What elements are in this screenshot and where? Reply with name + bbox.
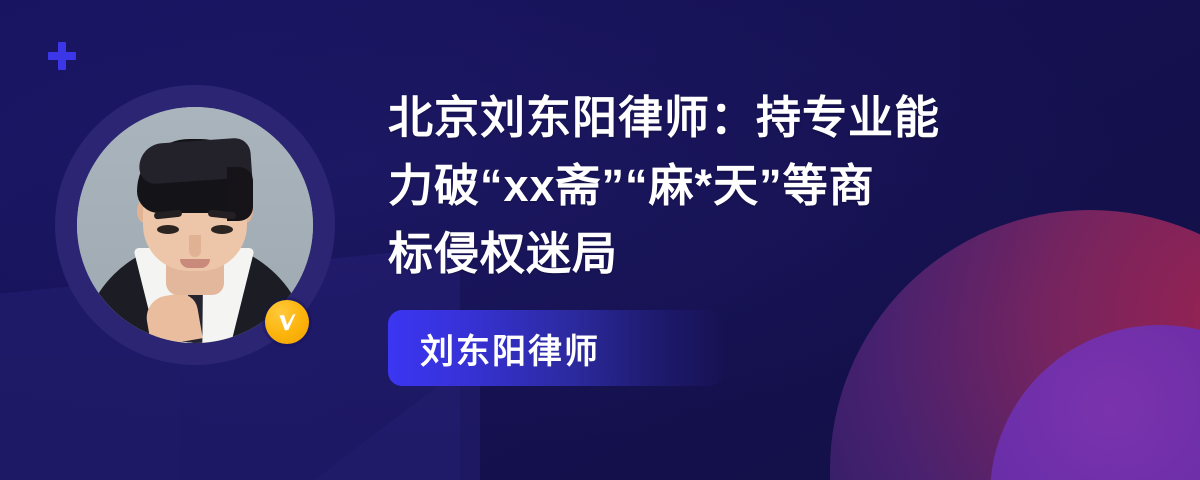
plus-icon-vertical-bar	[58, 42, 66, 70]
headline: 北京刘东阳律师：持专业能 力破“xx斋”“麻*天”等商 标侵权迷局	[388, 84, 1088, 288]
portrait-eye-left	[157, 225, 179, 234]
portrait-eye-right	[211, 225, 233, 234]
cta-row: 刘东阳律师	[388, 310, 1088, 386]
portrait-mouth	[180, 259, 210, 268]
promo-banner: 北京刘东阳律师：持专业能 力破“xx斋”“麻*天”等商 标侵权迷局 刘东阳律师	[0, 0, 1200, 480]
decor-polygon-block	[0, 355, 180, 480]
verified-badge-icon	[265, 300, 309, 344]
content-block: 北京刘东阳律师：持专业能 力破“xx斋”“麻*天”等商 标侵权迷局 刘东阳律师	[388, 84, 1088, 386]
portrait-nose	[189, 235, 201, 257]
plus-icon	[48, 42, 76, 70]
lawyer-name-button[interactable]: 刘东阳律师	[388, 310, 723, 386]
